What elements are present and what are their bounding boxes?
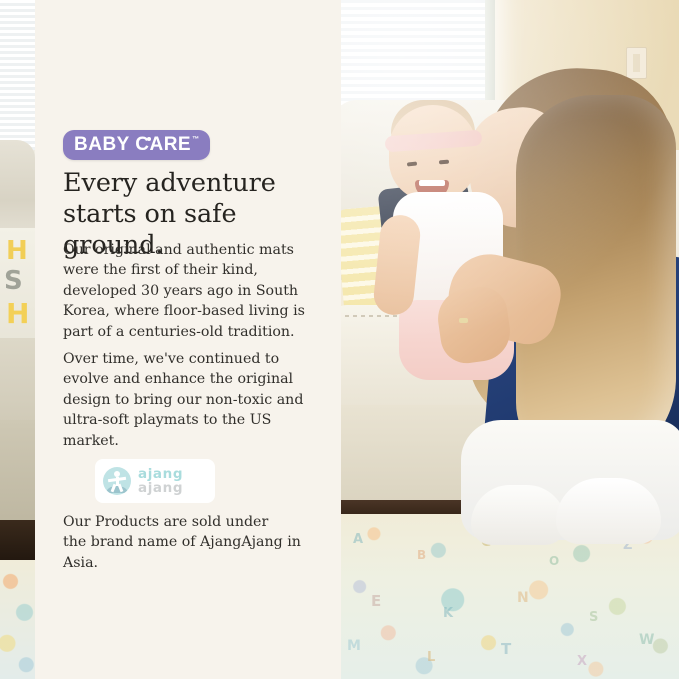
ajang-word-bottom: ajang	[138, 481, 183, 495]
paragraph-origin-story: Our original and authentic mats were the…	[63, 240, 331, 342]
ajang-word-top: ajang	[138, 467, 183, 481]
pillow-letter-glyph: H	[6, 238, 28, 264]
paragraph-line: Our Products are sold under	[63, 512, 331, 532]
left-photo-sliver: H S H	[0, 0, 35, 679]
sofa-cushion-sliver	[0, 338, 35, 430]
mother-and-baby	[341, 0, 679, 679]
dark-floor-sliver	[0, 520, 35, 565]
paragraph-line: Our original and authentic mats	[63, 240, 331, 260]
paragraph-line: the brand name of AjangAjang in Asia.	[63, 532, 331, 573]
baby-care-brand-badge: BABY CARE ™	[63, 130, 210, 160]
ajang-child-figure-icon	[103, 467, 131, 495]
paragraph-evolution: Over time, we've continued to evolve and…	[63, 349, 331, 451]
window-blinds-sliver	[0, 0, 35, 150]
headline-line-1: Every adventure	[63, 168, 276, 198]
paragraph-line: part of a centuries-old tradition.	[63, 322, 331, 342]
pillow-letter-glyph: H	[6, 300, 29, 328]
badge-c-dot-icon	[147, 137, 151, 141]
pillow-letter-glyph: S	[4, 268, 23, 294]
baby-care-label: BABY CARE	[74, 135, 191, 154]
paragraph-line: Korea, where floor-based living is	[63, 301, 331, 321]
paragraph-line: design to bring our non-toxic and	[63, 390, 331, 410]
wedding-ring	[459, 318, 468, 323]
paragraph-line: were the first of their kind,	[63, 260, 331, 280]
text-panel: BABY CARE ™ Every adventure starts on sa…	[35, 0, 341, 679]
sofa-base-sliver	[0, 420, 35, 530]
play-mat-sliver	[0, 560, 35, 679]
ajang-wordmark: ajang ajang	[138, 467, 183, 495]
paragraph-line: ultra-soft playmats to the US market.	[63, 410, 331, 451]
paragraph-line: Over time, we've continued to	[63, 349, 331, 369]
paragraph-line: developed 30 years ago in South	[63, 281, 331, 301]
trademark-symbol: ™	[192, 136, 199, 143]
advertisement-image: H S H BABY CARE ™ Every adventure starts…	[0, 0, 679, 679]
mother-knee-left	[471, 485, 566, 545]
paragraph-line: evolve and enhance the original	[63, 369, 331, 389]
lifestyle-photo: A B C O Z E K N S M L T X W	[341, 0, 679, 679]
paragraph-asia-brand: Our Products are sold under the brand na…	[63, 512, 331, 573]
baby-eye-right	[439, 160, 449, 165]
ajangajang-logo: ajang ajang	[95, 459, 215, 503]
mother-knee-right	[556, 478, 661, 544]
